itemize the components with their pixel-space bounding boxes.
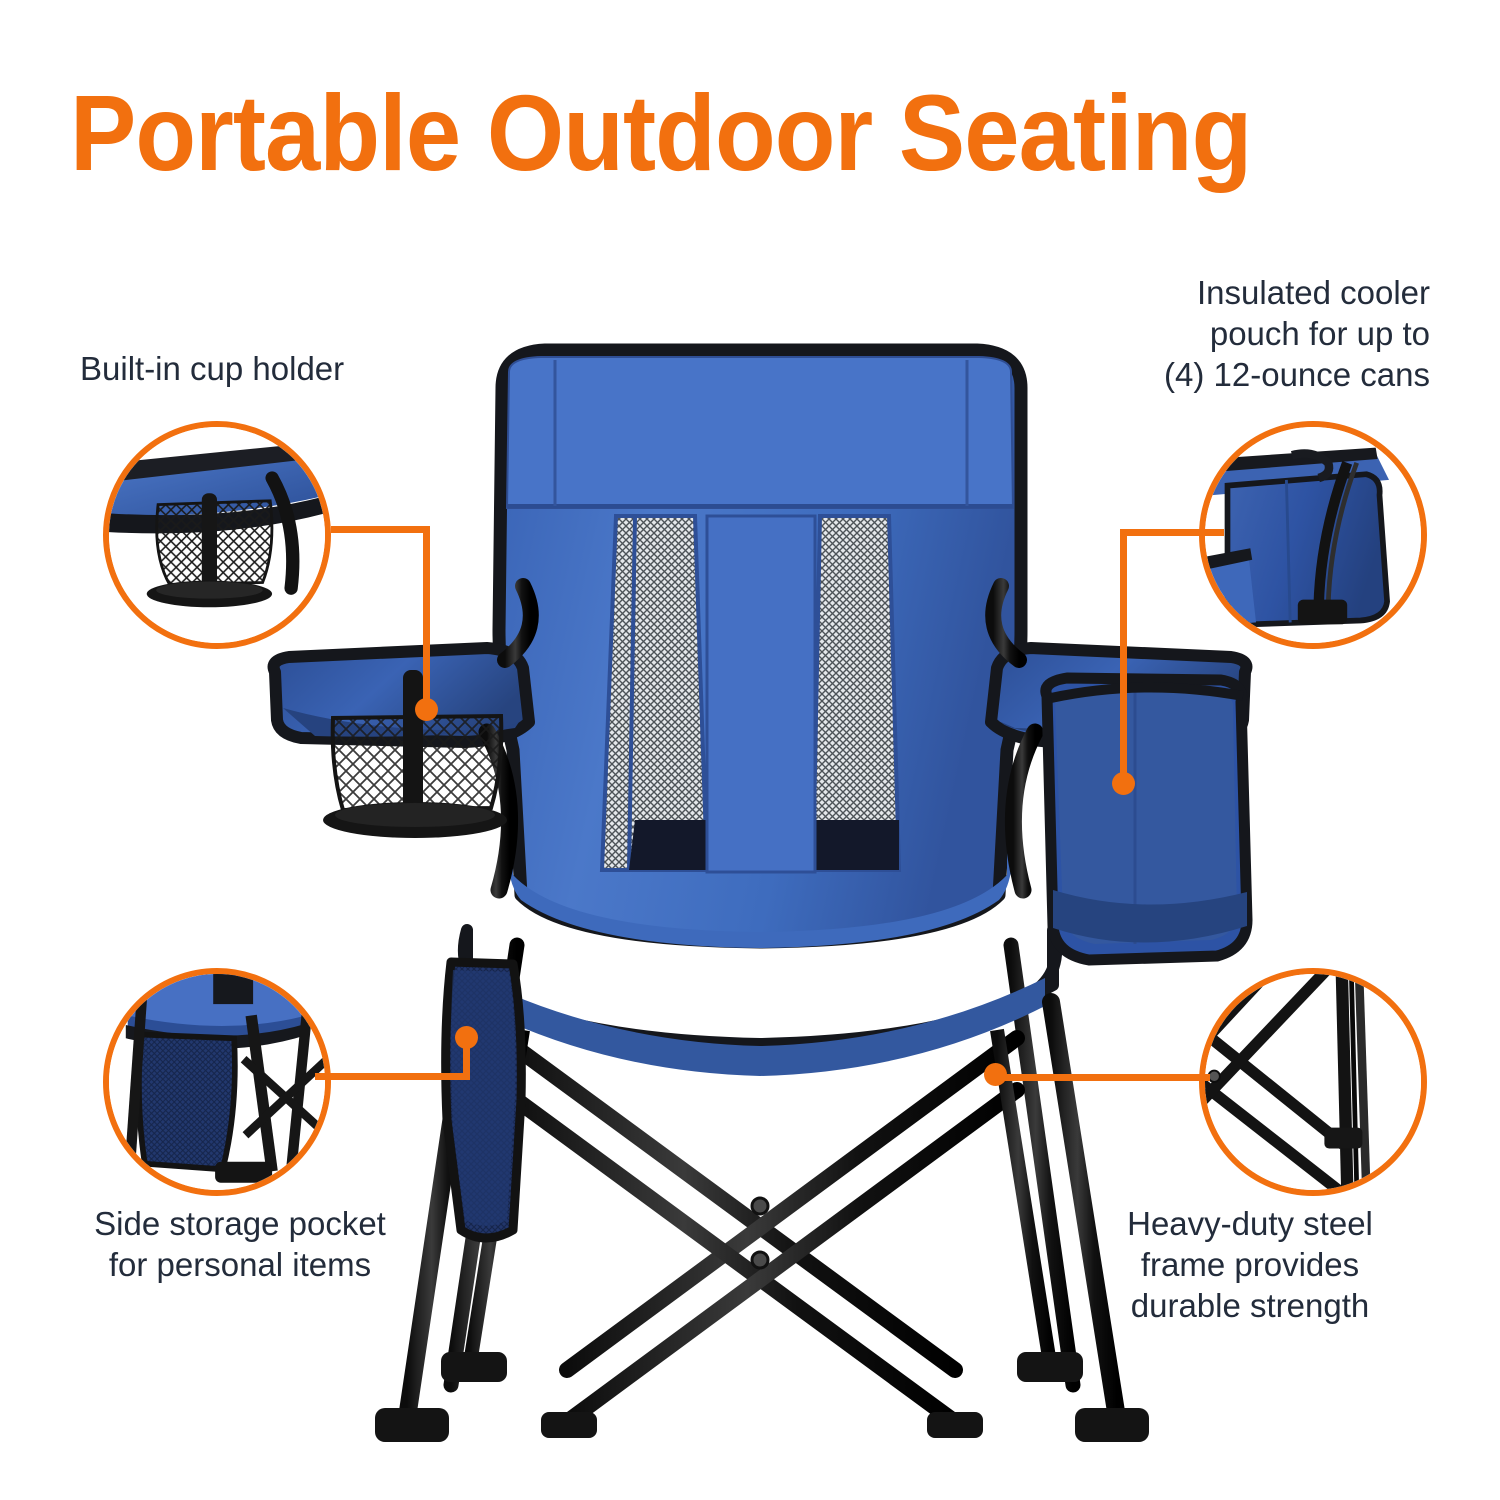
connector-line-pocket-horizontal <box>315 1073 470 1080</box>
page-title: Portable Outdoor Seating <box>70 78 1340 188</box>
seat-pan <box>464 930 1056 1076</box>
connector-dot-cup-holder <box>415 698 438 721</box>
callout-label-cup-holder: Built-in cup holder <box>80 348 500 389</box>
connector-dot-frame <box>984 1063 1007 1086</box>
infographic-canvas: Portable Outdoor Seating <box>0 0 1500 1500</box>
detail-circle-cup-holder <box>103 421 331 649</box>
callout-label-steel-frame: Heavy-duty steel frame provides durable … <box>1060 1203 1440 1326</box>
connector-line-cooler-vertical <box>1120 529 1127 781</box>
connector-dot-cooler <box>1112 772 1135 795</box>
connector-line-frame-horizontal <box>995 1074 1210 1081</box>
callout-label-side-pocket: Side storage pocket for personal items <box>50 1203 430 1285</box>
connector-line-cup-holder-horizontal <box>331 526 430 533</box>
detail-circle-side-pocket <box>103 968 331 1196</box>
callout-label-cooler-pouch: Insulated cooler pouch for up to (4) 12-… <box>1010 272 1430 395</box>
chair-backrest <box>499 350 1021 948</box>
detail-circle-steel-frame <box>1199 968 1427 1196</box>
cooler-pouch <box>1046 678 1247 960</box>
side-storage-pocket <box>446 962 522 1238</box>
detail-circle-cooler-pouch <box>1199 421 1427 649</box>
connector-line-cooler-horizontal <box>1120 529 1224 536</box>
connector-dot-pocket <box>455 1026 478 1049</box>
connector-line-cup-holder-vertical <box>423 526 430 709</box>
